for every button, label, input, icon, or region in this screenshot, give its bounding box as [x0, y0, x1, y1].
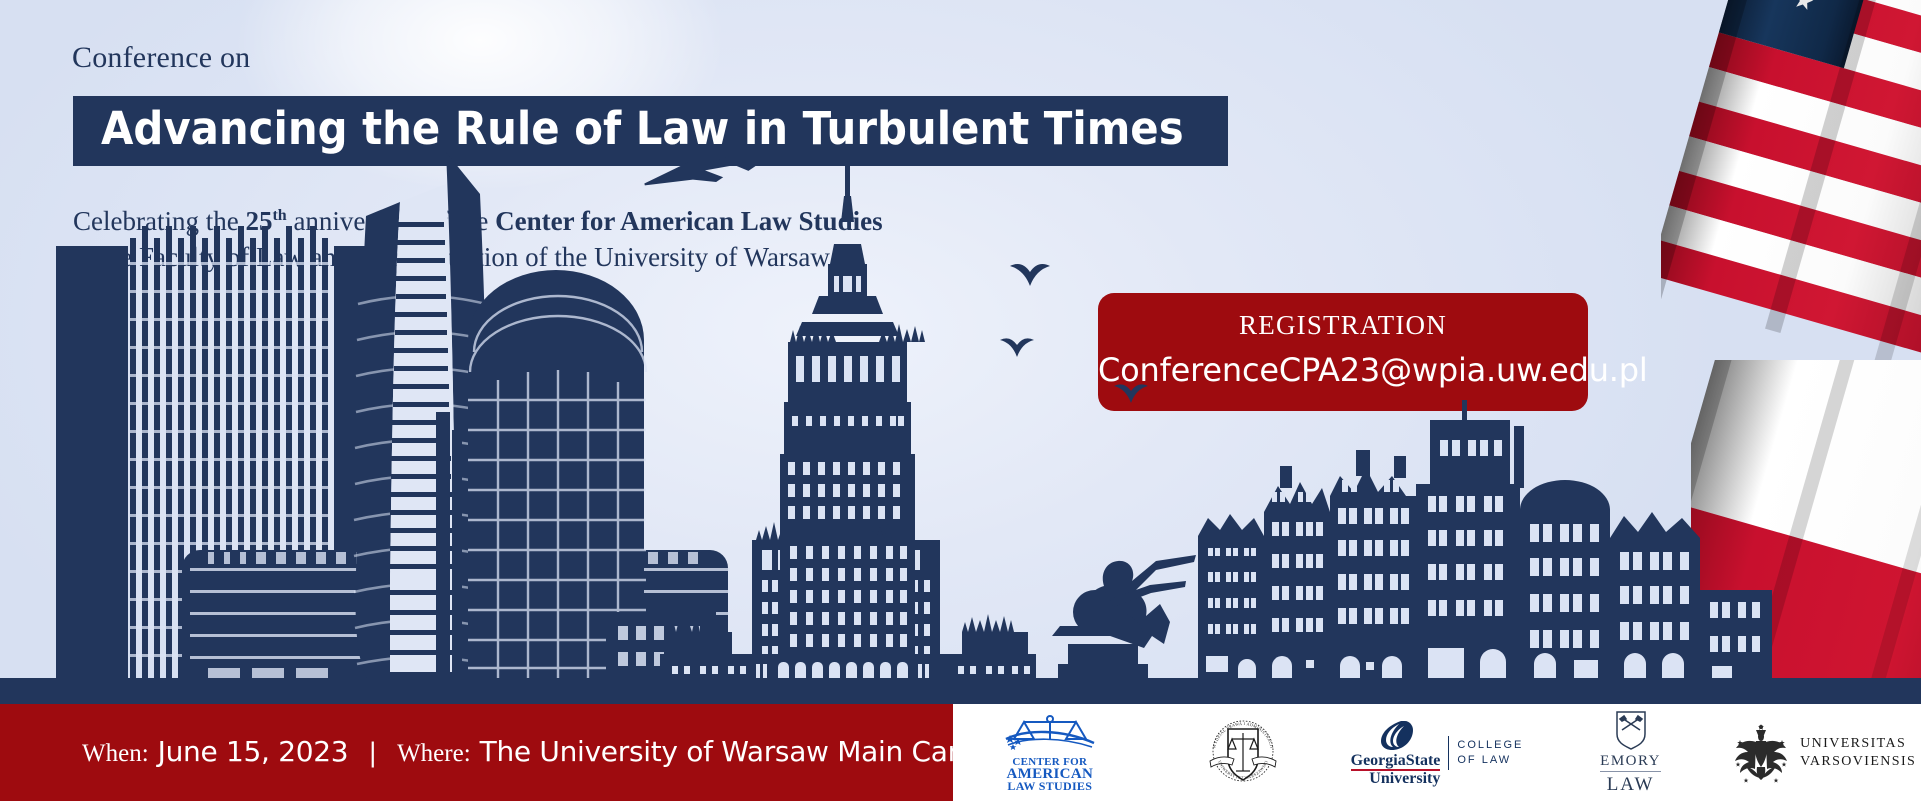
emory-law-word: LAW [1600, 774, 1661, 796]
where-label: Where: [397, 740, 471, 767]
where-value: The University of Warsaw Main Campus [471, 735, 1024, 768]
when-value: June 15, 2023 [149, 735, 349, 768]
uw-line-2: VARSOVIENSIS [1800, 753, 1916, 771]
emory-wordmark: EMORY [1600, 753, 1661, 772]
gsu-line-2: University [1351, 771, 1441, 786]
logo-emory-law: EMORY LAW [1534, 704, 1728, 801]
emory-shield-icon [1614, 710, 1648, 750]
logo-georgia-state-university-college-of-law: GeorgiaState University COLLEGE OF LAW [1340, 704, 1534, 801]
gsu-line-1: GeorgiaState [1351, 753, 1441, 768]
when-label: When: [82, 740, 149, 767]
airplane-icon [640, 144, 757, 199]
conference-banner: Conference on Advancing the Rule of Law … [0, 0, 1921, 801]
cals-line-3: LAW STUDIES [1002, 780, 1098, 792]
faculty-seal-icon: WYDZIAŁ PRAWA I ADMINISTRACJI UNIWERSYTE… [1202, 709, 1284, 791]
ground-bar [0, 678, 1921, 704]
details-separator: | [348, 738, 397, 768]
event-details-text: When:June 15, 2023|Where:The University … [82, 735, 1024, 768]
logo-center-for-american-law-studies: CENTER FOR AMERICAN LAW STUDIES [953, 704, 1147, 801]
logo-universitas-varsoviensis: UNIVERSITAS VARSOVIENSIS [1727, 704, 1921, 801]
gsu-flame-icon [1375, 719, 1417, 751]
logo-faculty-of-law-and-administration: WYDZIAŁ PRAWA I ADMINISTRACJI UNIWERSYTE… [1147, 704, 1341, 801]
gsu-divider [1448, 736, 1449, 770]
gsu-college-line-1: COLLEGE [1457, 738, 1523, 753]
scales-of-justice-icon [1002, 713, 1098, 751]
kicker-text: Conference on [72, 41, 250, 75]
warsaw-mermaid-statue [1052, 555, 1196, 688]
bird-icons [1000, 264, 1148, 403]
uw-eagle-icon [1732, 722, 1790, 784]
gsu-college-line-2: OF LAW [1457, 753, 1523, 768]
uw-line-1: UNIVERSITAS [1800, 735, 1916, 753]
warsaw-skyline-silhouette [0, 144, 1790, 704]
old-town-buildings [1198, 400, 1772, 688]
partner-logo-bar: CENTER FOR AMERICAN LAW STUDIES [953, 704, 1921, 801]
